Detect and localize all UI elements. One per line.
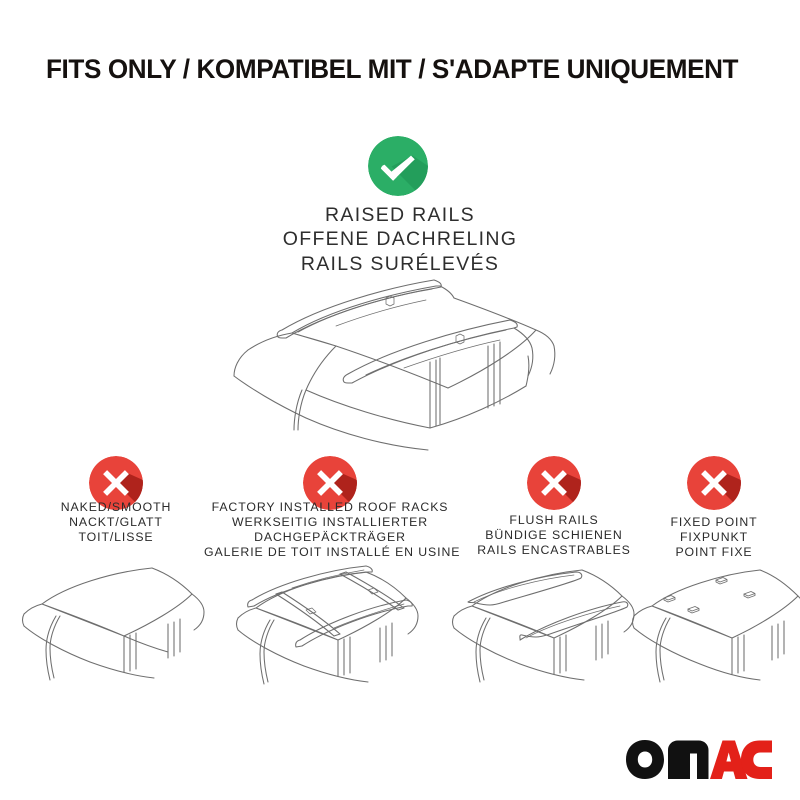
incompatible-label-factory-racks: FACTORY INSTALLED ROOF RACKS WERKSEITIG …	[204, 500, 456, 560]
cross-circle-icon	[687, 456, 741, 510]
car-roof-raised-rails-illustration	[190, 278, 610, 453]
car-roof-naked-smooth-illustration	[12, 562, 210, 690]
compatible-label: RAISED RAILS OFFENE DACHRELING RAILS SUR…	[230, 203, 570, 276]
incompatible-label-fixed-point: FIXED POINT FIXPUNKT POINT FIXE	[634, 515, 794, 560]
omac-logo	[624, 734, 774, 786]
infographic-root: FITS ONLY / KOMPATIBEL MIT / S'ADAPTE UN…	[0, 0, 800, 800]
car-roof-fixed-point-illustration	[622, 558, 800, 688]
car-roof-factory-racks-illustration	[222, 556, 430, 690]
page-title: FITS ONLY / KOMPATIBEL MIT / S'ADAPTE UN…	[46, 56, 755, 84]
car-roof-flush-rails-illustration	[442, 558, 642, 688]
check-circle-icon	[368, 136, 428, 196]
incompatible-label-flush-rails: FLUSH RAILS BÜNDIGE SCHIENEN RAILS ENCAS…	[456, 513, 652, 558]
cross-circle-icon	[527, 456, 581, 510]
incompatible-label-naked-smooth: NAKED/SMOOTH NACKT/GLATT TOIT/LISSE	[16, 500, 216, 545]
